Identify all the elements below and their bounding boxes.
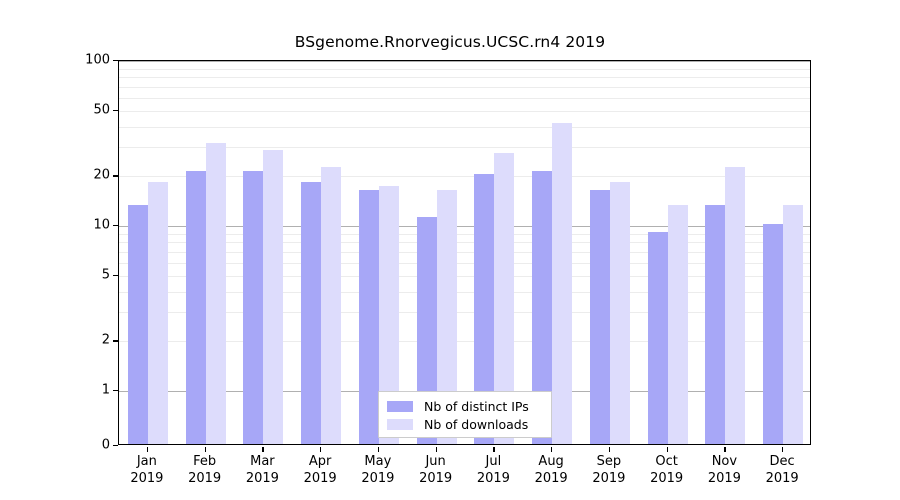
bar-may-distinct-ips <box>359 190 379 444</box>
x-axis: Jan2019Feb2019Mar2019Apr2019May2019Jun20… <box>118 447 811 497</box>
x-tick-month: Nov <box>708 453 741 470</box>
bars-layer <box>119 61 810 444</box>
x-tick-mark <box>147 447 148 452</box>
y-tick-mark <box>113 225 118 226</box>
x-tick-year: 2019 <box>650 470 683 487</box>
x-tick-label-jan: Jan2019 <box>130 453 163 487</box>
x-tick-month: Jun <box>419 453 452 470</box>
x-tick-month: Mar <box>246 453 279 470</box>
x-tick-mark <box>493 447 494 452</box>
y-tick-label: 1 <box>64 382 110 397</box>
y-tick-mark <box>113 275 118 276</box>
x-tick-year: 2019 <box>708 470 741 487</box>
x-tick-label-jun: Jun2019 <box>419 453 452 487</box>
x-tick-mark <box>320 447 321 452</box>
x-tick-year: 2019 <box>188 470 221 487</box>
bar-apr-distinct-ips <box>301 182 321 444</box>
x-tick-year: 2019 <box>304 470 337 487</box>
y-tick-label: 0 <box>64 438 110 453</box>
bar-feb-downloads <box>206 143 226 444</box>
bar-sep-distinct-ips <box>590 190 610 444</box>
x-tick-label-may: May2019 <box>361 453 394 487</box>
chart-figure: BSgenome.Rnorvegicus.UCSC.rn4 2019 10050… <box>0 0 900 500</box>
y-tick-mark <box>113 175 118 176</box>
y-axis: 1005020105210 <box>60 60 110 445</box>
y-tick-label: 10 <box>64 217 110 232</box>
x-tick-mark <box>609 447 610 452</box>
x-tick-month: Feb <box>188 453 221 470</box>
x-tick-month: Oct <box>650 453 683 470</box>
bar-sep-downloads <box>610 182 630 444</box>
bar-mar-distinct-ips <box>243 171 263 444</box>
legend-label-distinct-ips: Nb of distinct IPs <box>424 399 529 414</box>
x-tick-month: May <box>361 453 394 470</box>
plot-area <box>118 60 811 445</box>
bar-nov-distinct-ips <box>705 205 725 444</box>
legend-swatch-downloads <box>387 419 413 430</box>
y-tick-mark <box>113 60 118 61</box>
x-tick-year: 2019 <box>246 470 279 487</box>
y-tick-mark <box>113 390 118 391</box>
x-tick-mark <box>782 447 783 452</box>
x-tick-year: 2019 <box>535 470 568 487</box>
x-tick-mark <box>205 447 206 452</box>
y-tick-label: 5 <box>64 267 110 282</box>
x-tick-month: Aug <box>535 453 568 470</box>
bar-nov-downloads <box>725 167 745 444</box>
bar-aug-downloads <box>552 123 572 444</box>
bar-oct-distinct-ips <box>648 232 668 444</box>
chart-title: BSgenome.Rnorvegicus.UCSC.rn4 2019 <box>0 33 900 51</box>
x-tick-mark <box>724 447 725 452</box>
y-tick-mark <box>113 445 118 446</box>
y-tick-label: 2 <box>64 333 110 348</box>
bar-jan-downloads <box>148 182 168 444</box>
x-tick-label-feb: Feb2019 <box>188 453 221 487</box>
x-tick-year: 2019 <box>419 470 452 487</box>
x-tick-label-apr: Apr2019 <box>304 453 337 487</box>
bar-dec-distinct-ips <box>763 224 783 444</box>
x-tick-mark <box>378 447 379 452</box>
x-tick-year: 2019 <box>130 470 163 487</box>
y-tick-label: 100 <box>64 53 110 68</box>
bar-jan-distinct-ips <box>128 205 148 444</box>
x-tick-label-oct: Oct2019 <box>650 453 683 487</box>
x-tick-year: 2019 <box>766 470 799 487</box>
x-tick-mark <box>262 447 263 452</box>
x-tick-label-aug: Aug2019 <box>535 453 568 487</box>
bar-mar-downloads <box>263 150 283 444</box>
legend-swatch-distinct-ips <box>387 401 413 412</box>
x-tick-mark <box>436 447 437 452</box>
bar-dec-downloads <box>783 205 803 444</box>
x-tick-month: Dec <box>766 453 799 470</box>
x-tick-label-mar: Mar2019 <box>246 453 279 487</box>
x-tick-label-jul: Jul2019 <box>477 453 510 487</box>
x-tick-label-sep: Sep2019 <box>592 453 625 487</box>
x-tick-label-dec: Dec2019 <box>766 453 799 487</box>
x-tick-year: 2019 <box>592 470 625 487</box>
y-tick-label: 50 <box>64 102 110 117</box>
y-tick-mark <box>113 340 118 341</box>
bar-feb-distinct-ips <box>186 171 206 444</box>
x-tick-year: 2019 <box>477 470 510 487</box>
x-tick-mark <box>667 447 668 452</box>
x-tick-year: 2019 <box>361 470 394 487</box>
x-tick-mark <box>551 447 552 452</box>
legend-item-downloads: Nb of downloads <box>387 415 543 433</box>
x-tick-month: Jul <box>477 453 510 470</box>
legend-label-downloads: Nb of downloads <box>424 417 528 432</box>
x-tick-month: Apr <box>304 453 337 470</box>
x-tick-label-nov: Nov2019 <box>708 453 741 487</box>
bar-apr-downloads <box>321 167 341 444</box>
x-tick-month: Sep <box>592 453 625 470</box>
bar-oct-downloads <box>668 205 688 444</box>
legend-item-distinct-ips: Nb of distinct IPs <box>387 397 543 415</box>
chart-legend: Nb of distinct IPs Nb of downloads <box>378 391 552 438</box>
x-tick-month: Jan <box>130 453 163 470</box>
y-tick-mark <box>113 110 118 111</box>
y-tick-label: 20 <box>64 168 110 183</box>
